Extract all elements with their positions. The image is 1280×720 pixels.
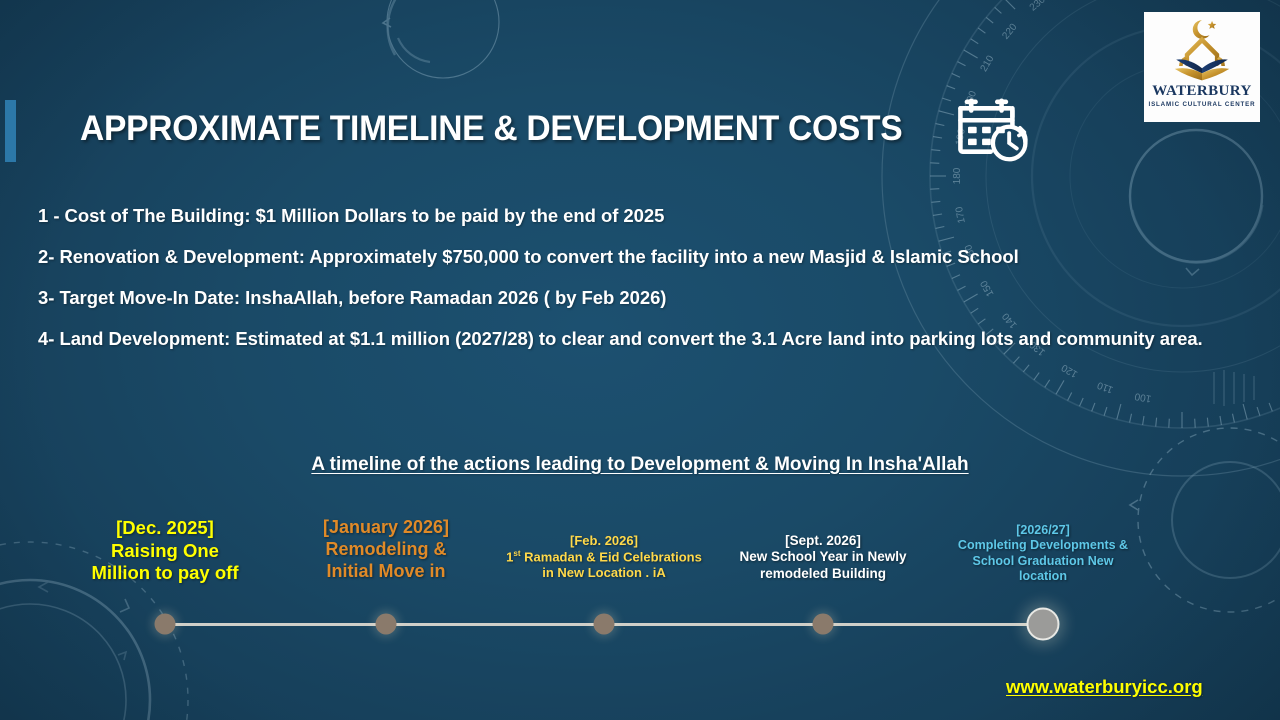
milestone-line: New School Year in Newly bbox=[739, 549, 906, 565]
timeline-milestone-1: [Dec. 2025]Raising OneMillion to pay off bbox=[92, 517, 239, 585]
logo-name: WATERBURY bbox=[1152, 84, 1251, 99]
bullet-item-2: 2- Renovation & Development: Approximate… bbox=[38, 244, 1218, 270]
milestone-line: location bbox=[958, 569, 1128, 584]
logo-subtitle: ISLAMIC CULTURAL CENTER bbox=[1149, 102, 1256, 108]
timeline-milestone-5: [2026/27]Completing Developments &School… bbox=[958, 523, 1128, 584]
milestone-date: [Sept. 2026] bbox=[739, 533, 906, 549]
page-title: APPROXIMATE TIMELINE & DEVELOPMENT COSTS bbox=[80, 109, 902, 149]
website-url-link[interactable]: www.waterburyicc.org bbox=[1006, 676, 1203, 698]
cost-bullet-list: 1 - Cost of The Building: $1 Million Dol… bbox=[38, 203, 1218, 352]
milestone-line: Raising One bbox=[92, 540, 239, 563]
svg-text:100: 100 bbox=[1133, 390, 1152, 404]
milestone-date: [Feb. 2026] bbox=[506, 533, 702, 549]
left-accent-bar bbox=[5, 100, 16, 162]
calendar-clock-icon bbox=[955, 95, 1033, 165]
timeline-dot-5 bbox=[1027, 608, 1060, 641]
svg-text:230: 230 bbox=[1028, 0, 1048, 14]
milestone-line: School Graduation New bbox=[958, 554, 1128, 569]
milestone-date: [Dec. 2025] bbox=[92, 517, 239, 540]
svg-text:180: 180 bbox=[952, 167, 963, 184]
milestone-line: Remodeling & bbox=[323, 539, 449, 561]
timeline-dot-3 bbox=[594, 614, 615, 635]
svg-text:110: 110 bbox=[1095, 379, 1114, 395]
timeline-heading: A timeline of the actions leading to Dev… bbox=[0, 454, 1280, 476]
timeline-milestone-4: [Sept. 2026]New School Year in Newlyremo… bbox=[739, 533, 906, 582]
milestone-date: [2026/27] bbox=[958, 523, 1128, 538]
milestone-line: 1st Ramadan & Eid Celebrations bbox=[506, 549, 702, 565]
milestone-line: remodeled Building bbox=[739, 566, 906, 582]
milestone-line: Initial Move in bbox=[323, 561, 449, 583]
svg-text:210: 210 bbox=[979, 53, 997, 73]
timeline-milestone-2: [January 2026]Remodeling &Initial Move i… bbox=[323, 517, 449, 583]
mosque-crescent-book-icon bbox=[1159, 16, 1245, 86]
bullet-item-1: 1 - Cost of The Building: $1 Million Dol… bbox=[38, 203, 1218, 229]
bullet-item-3: 3- Target Move-In Date: InshaAllah, befo… bbox=[38, 285, 1218, 311]
slide-canvas: 1001101201301401501601701801902002102202… bbox=[0, 0, 1280, 720]
bullet-item-4: 4- Land Development: Estimated at $1.1 m… bbox=[38, 326, 1218, 352]
organization-logo: WATERBURY ISLAMIC CULTURAL CENTER bbox=[1144, 12, 1260, 122]
timeline: [Dec. 2025]Raising OneMillion to pay off… bbox=[0, 495, 1280, 655]
milestone-line: Completing Developments & bbox=[958, 538, 1128, 553]
milestone-line: Million to pay off bbox=[92, 562, 239, 585]
timeline-milestone-3: [Feb. 2026]1st Ramadan & Eid Celebration… bbox=[506, 533, 702, 581]
milestone-line: in New Location . iA bbox=[506, 565, 702, 581]
timeline-dot-4 bbox=[813, 614, 834, 635]
svg-text:220: 220 bbox=[1000, 21, 1019, 41]
timeline-dot-2 bbox=[376, 614, 397, 635]
timeline-dot-1 bbox=[155, 614, 176, 635]
milestone-date: [January 2026] bbox=[323, 517, 449, 539]
svg-text:120: 120 bbox=[1059, 361, 1079, 379]
title-row: APPROXIMATE TIMELINE & DEVELOPMENT COSTS bbox=[80, 101, 1090, 157]
